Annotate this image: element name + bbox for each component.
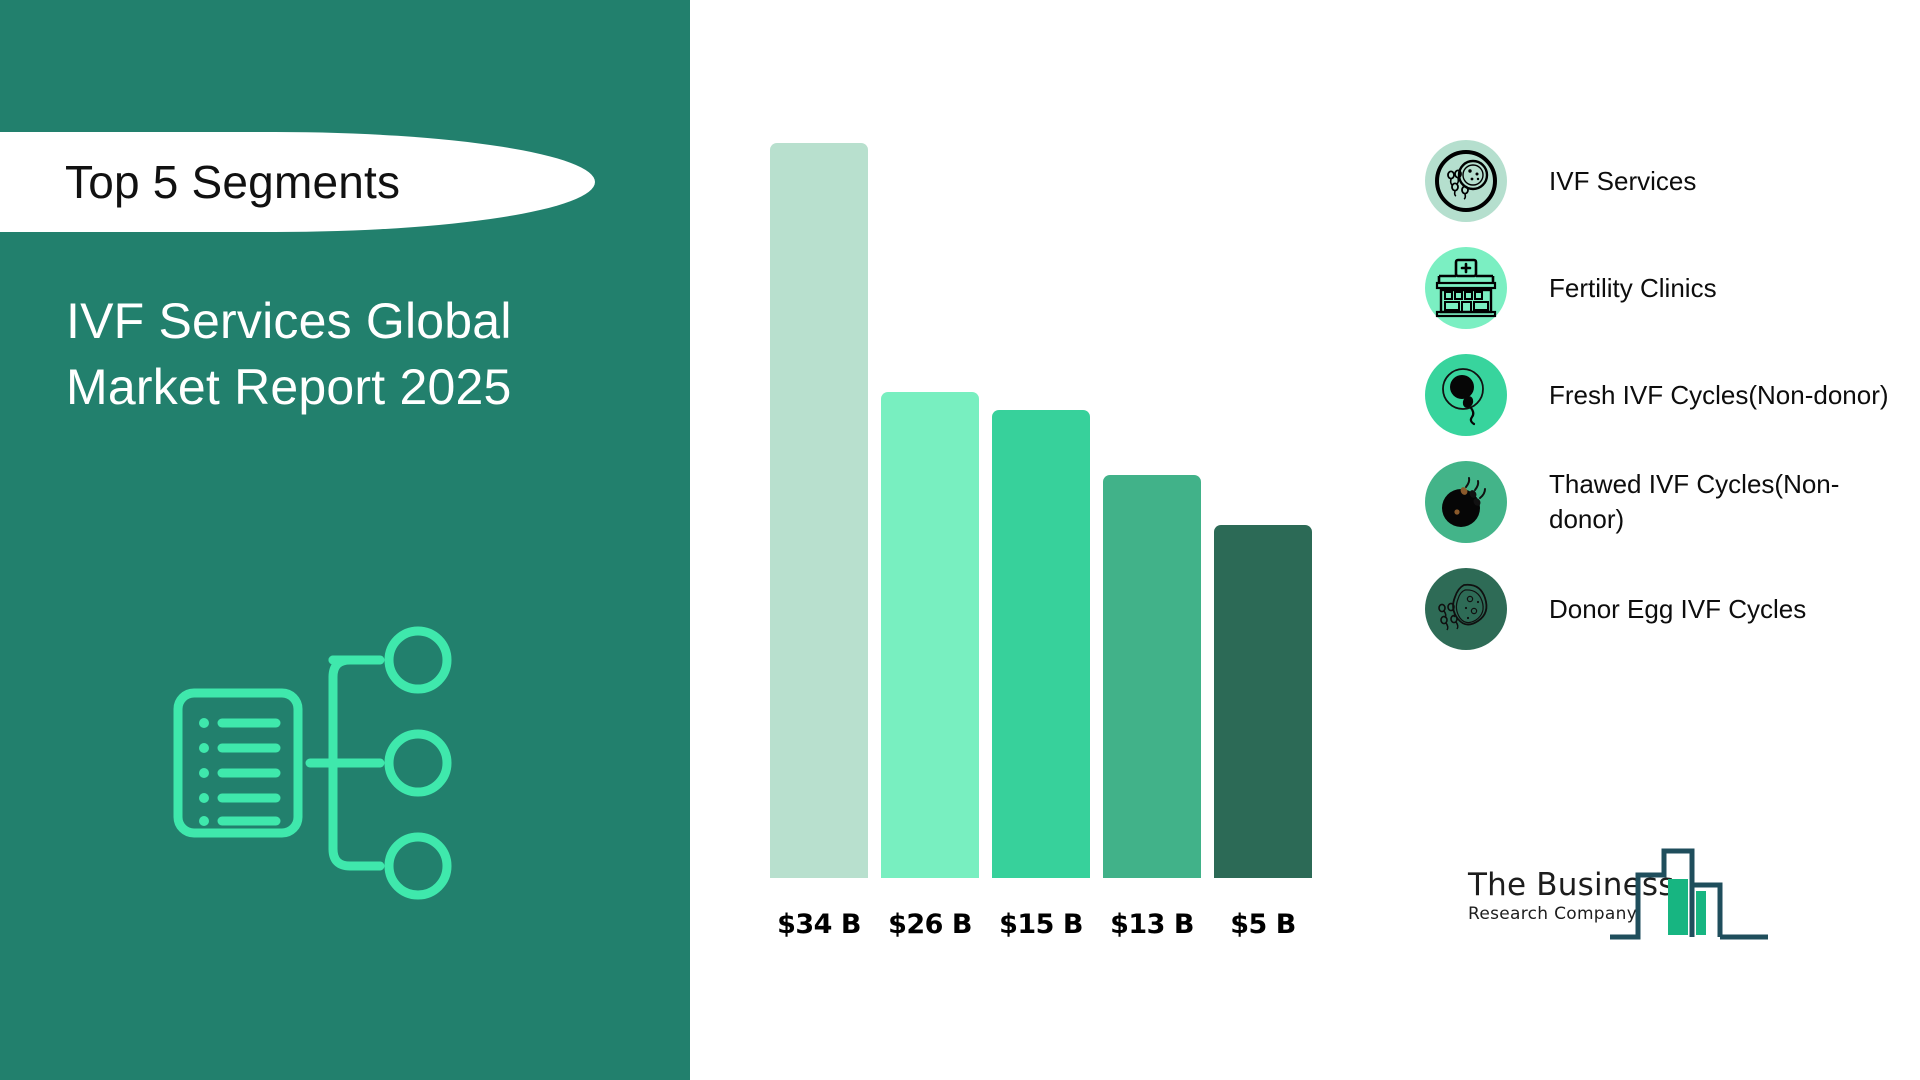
legend-item: Fresh IVF Cycles(Non-donor) [1425, 354, 1895, 436]
report-title-line-2: Market Report 2025 [66, 354, 626, 420]
bar-group [770, 138, 1330, 878]
bar-column [881, 138, 979, 878]
donor-egg-icon [1425, 568, 1507, 650]
egg-sperm-single-icon [1425, 354, 1507, 436]
bar [1214, 525, 1312, 878]
badge-label: Top 5 Segments [65, 155, 400, 209]
report-title-line-1: IVF Services Global [66, 288, 626, 354]
bar-value-label: $15 B [992, 909, 1090, 940]
page-title: IVF Services Global Market Report 2025 [66, 288, 626, 420]
company-logo: The Business Research Company [1468, 845, 1798, 955]
bar-value-label: $26 B [881, 909, 979, 940]
ovum-fertilization-icon [1425, 140, 1507, 222]
bar [1103, 475, 1201, 878]
segmentation-tree-icon [170, 615, 470, 910]
bar [770, 143, 868, 878]
bar-value-label: $13 B [1103, 909, 1201, 940]
legend-item: Donor Egg IVF Cycles [1425, 568, 1895, 650]
legend-item: IVF Services [1425, 140, 1895, 222]
top-segments-badge: Top 5 Segments [0, 132, 595, 232]
bar-column [770, 138, 868, 878]
legend-item-label: Fertility Clinics [1549, 271, 1717, 306]
bar-value-label: $34 B [770, 909, 868, 940]
bar [992, 410, 1090, 878]
bar-chart: $34 B$26 B$15 B$13 B$5 B [690, 0, 1270, 1080]
hospital-building-icon [1425, 247, 1507, 329]
bar [881, 392, 979, 878]
bar-column [1103, 138, 1201, 878]
egg-multiple-sperm-icon [1425, 461, 1507, 543]
legend-item-label: IVF Services [1549, 164, 1696, 199]
legend-item-label: Fresh IVF Cycles(Non-donor) [1549, 378, 1889, 413]
bar-column [1214, 138, 1312, 878]
bar-value-label: $5 B [1214, 909, 1312, 940]
bar-value-labels: $34 B$26 B$15 B$13 B$5 B [770, 909, 1330, 940]
legend-item-label: Thawed IVF Cycles(Non-donor) [1549, 467, 1895, 537]
legend: IVF Services Fertility Clinics Fresh IVF… [1425, 140, 1895, 675]
legend-item-label: Donor Egg IVF Cycles [1549, 592, 1806, 627]
legend-item: Fertility Clinics [1425, 247, 1895, 329]
left-panel: Top 5 Segments IVF Services Global Marke… [0, 0, 690, 1080]
bar-chart-logo-mark [1608, 845, 1798, 955]
bar-column [992, 138, 1090, 878]
legend-item: Thawed IVF Cycles(Non-donor) [1425, 461, 1895, 543]
